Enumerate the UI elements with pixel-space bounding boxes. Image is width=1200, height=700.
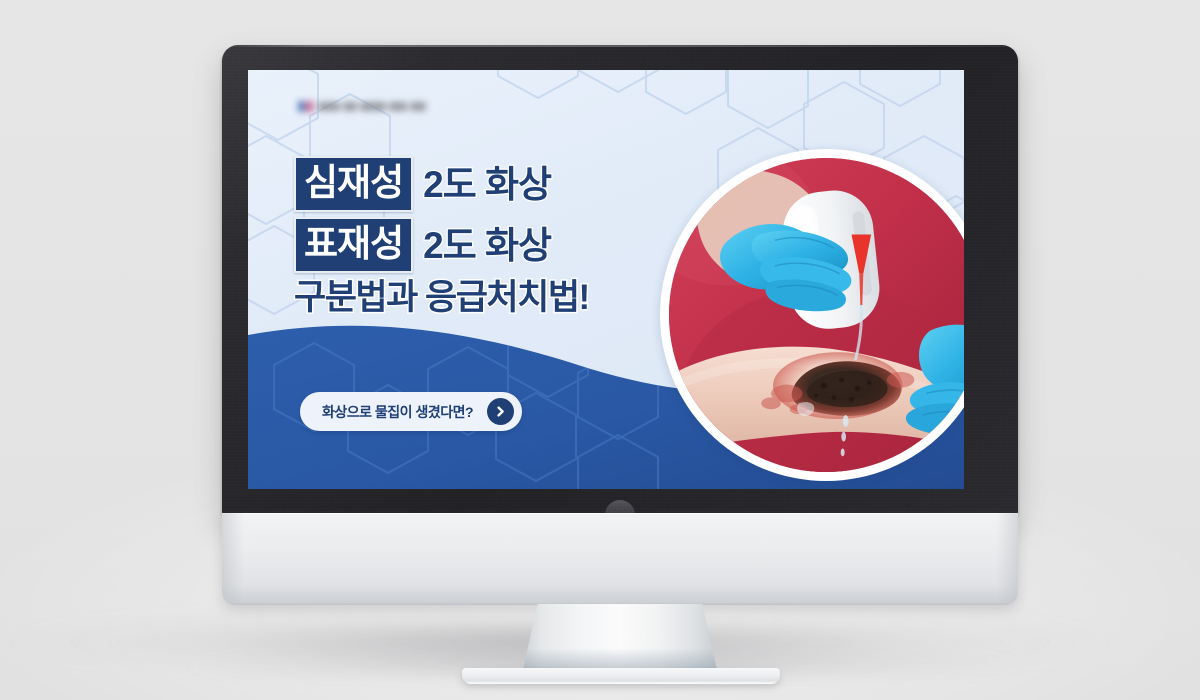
cta-label: 화상으로 물집이 생겼다면? [322, 402, 473, 422]
photo-clip [669, 158, 964, 472]
headline-tag-deep-partial: 심재성 [294, 156, 413, 212]
monitor-chin [222, 513, 1018, 605]
bezel-highlight [222, 45, 1018, 47]
monitor: 심재성 2도 화상 표재성 2도 화상 구분법과 응급처치법! 화상으로 물집이… [222, 45, 1018, 515]
photo-circle [660, 149, 964, 481]
headline-tag-superficial-partial: 표재성 [294, 217, 413, 273]
scene-stage: 심재성 2도 화상 표재성 2도 화상 구분법과 응급처치법! 화상으로 물집이… [0, 0, 1200, 700]
headline-subtitle: 구분법과 응급처치법! [294, 278, 694, 317]
headline-rest-2: 2도 화상 [423, 227, 551, 264]
brand-logo[interactable] [298, 98, 430, 115]
monitor-stand-neck [522, 604, 718, 674]
monitor-stand-foot [462, 668, 780, 684]
headline-rest-1: 2도 화상 [423, 166, 551, 203]
chevron-right-icon[interactable] [487, 398, 514, 425]
chin-left-shade [222, 513, 248, 605]
chin-right-shade [992, 513, 1018, 605]
poster-headline: 심재성 2도 화상 표재성 2도 화상 구분법과 응급처치법! [294, 156, 694, 317]
burn-wound-irrigation-photo [669, 158, 964, 472]
headline-line-1: 심재성 2도 화상 [294, 156, 694, 212]
screen[interactable]: 심재성 2도 화상 표재성 2도 화상 구분법과 응급처치법! 화상으로 물집이… [248, 70, 964, 489]
cta-button[interactable]: 화상으로 물집이 생겼다면? [300, 392, 522, 431]
headline-line-2: 표재성 2도 화상 [294, 217, 694, 273]
